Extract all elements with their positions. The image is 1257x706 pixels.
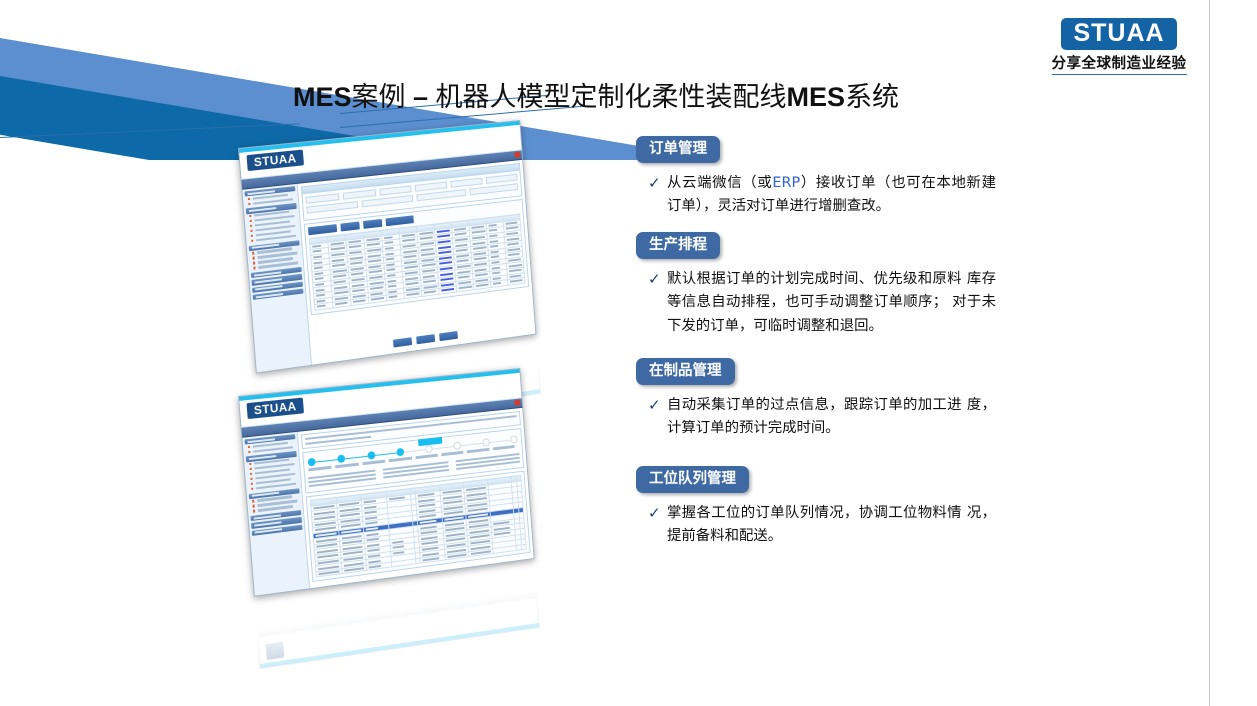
bullet-icon (249, 215, 252, 218)
feature-section-wip: 在制品管理 ✓ 自动采集订单的过点信息，跟踪订单的加工进 度，计算订单的预计完成… (636, 358, 996, 441)
step-connector (316, 459, 338, 463)
step-label (335, 463, 358, 468)
step-connector (345, 455, 367, 459)
decorative-hairline-2 (0, 123, 300, 138)
step-label (441, 451, 463, 456)
feature-section-order: 订单管理 ✓ 从云端微信（或ERP）接收订单（也可在本地新建订单），灵活对订单进… (636, 136, 996, 219)
main-content (298, 408, 534, 589)
mes-window-wip[interactable]: STUAA (238, 368, 535, 597)
app-logo: STUAA (246, 150, 303, 172)
filter-input[interactable] (416, 189, 466, 201)
toolbar-button[interactable] (363, 219, 382, 229)
filter-input[interactable] (486, 174, 518, 184)
wip-table[interactable] (310, 475, 527, 578)
filter-input[interactable] (469, 183, 518, 195)
nav-group[interactable] (246, 203, 299, 244)
footer-button[interactable] (439, 331, 458, 341)
step-connector (489, 439, 510, 443)
step-label (415, 454, 438, 459)
filter-input[interactable] (362, 195, 413, 207)
step-label (467, 448, 489, 453)
feature-section-station-queue: 工位队列管理 ✓ 掌握各工位的订单队列情况，协调工位物料情 况，提前备料和配送。 (636, 466, 996, 549)
bullet-icon (253, 267, 256, 270)
bullet-icon (248, 203, 251, 206)
step-node-pending[interactable] (510, 436, 518, 444)
bullet-icon (248, 198, 251, 201)
check-icon: ✓ (648, 172, 667, 219)
page-title-case: 案例 (352, 82, 406, 113)
bullet-icon (252, 500, 255, 503)
page-title-dash: – (406, 82, 436, 112)
logo-tagline: 分享全球制造业经验 (1052, 52, 1187, 75)
bullet-icon (248, 451, 251, 454)
bullet-station-queue: ✓ 掌握各工位的订单队列情况，协调工位物料情 况，提前备料和配送。 (636, 502, 996, 549)
bullet-order: ✓ 从云端微信（或ERP）接收订单（也可在本地新建订单），灵活对订单进行增删查改… (636, 172, 996, 219)
bullet-scheduling: ✓ 默认根据订单的计划完成时间、优先级和原料 库存等信息自动排程，也可手动调整订… (636, 268, 996, 338)
section-badge-station-queue: 工位队列管理 (636, 466, 749, 493)
footer-button[interactable] (393, 337, 412, 347)
bullet-text-station-queue: 掌握各工位的订单队列情况，协调工位物料情 况，提前备料和配送。 (667, 502, 996, 549)
step-connector (404, 449, 426, 453)
right-frame-rule (1209, 0, 1210, 706)
section-badge-wip: 在制品管理 (636, 358, 735, 385)
bullet-icon (250, 220, 253, 223)
bullet-text-order-pre: 从云端微信（或 (667, 175, 772, 191)
bullet-icon (250, 225, 253, 228)
page-title: MES案例 – 机器人模型定制化柔性装配线MES系统 (293, 75, 993, 114)
toolbar-button[interactable] (308, 224, 337, 235)
step-label (493, 445, 515, 450)
feature-list: 订单管理 ✓ 从云端微信（或ERP）接收订单（也可在本地新建订单），灵活对订单进… (636, 136, 996, 554)
bullet-icon (250, 468, 253, 471)
step-label (308, 466, 331, 471)
toolbar-button[interactable] (340, 222, 360, 232)
bullet-icon (253, 257, 256, 260)
bullet-text-scheduling: 默认根据订单的计划完成时间、优先级和原料 库存等信息自动排程，也可手动调整订单顺… (667, 268, 996, 338)
filter-input[interactable] (451, 178, 483, 188)
close-icon[interactable] (515, 400, 521, 406)
bullet-icon (251, 483, 254, 486)
section-badge-scheduling: 生产排程 (636, 232, 720, 259)
brand-logo: STUAA 分享全球制造业经验 (1039, 18, 1199, 75)
step-label (389, 457, 412, 462)
step-label (362, 460, 385, 465)
step-connector (375, 452, 397, 456)
bullet-icon (250, 478, 253, 481)
bullet-icon (252, 252, 255, 255)
toolbar-button[interactable] (385, 215, 413, 226)
filter-input[interactable] (306, 193, 340, 204)
page-title-mes-1: MES (293, 82, 352, 112)
step-connector (461, 442, 482, 446)
logo-text: STUAA (1061, 18, 1176, 50)
screenshot-wip-progress[interactable]: STUAA (238, 368, 540, 670)
slide-canvas: STUAA 分享全球制造业经验 MES案例 – 机器人模型定制化柔性装配线MES… (0, 0, 1257, 706)
bullet-text-order: 从云端微信（或ERP）接收订单（也可在本地新建订单），灵活对订单进行增删查改。 (667, 172, 996, 219)
section-badge-order: 订单管理 (636, 136, 720, 163)
bullet-icon (253, 510, 256, 513)
bullet-icon (251, 240, 254, 243)
page-title-subject: 机器人模型定制化柔性装配线 (436, 82, 787, 113)
bullet-icon (249, 463, 252, 466)
filter-input[interactable] (306, 201, 358, 214)
nav-group[interactable] (246, 451, 299, 492)
check-icon: ✓ (648, 502, 667, 549)
bullet-icon (251, 488, 254, 491)
bullet-text-wip: 自动采集订单的过点信息，跟踪订单的加工进 度，计算订单的预计完成时间。 (667, 394, 996, 441)
decorative-band-bottom-right (897, 556, 1257, 706)
band-stripe-light (897, 633, 1257, 706)
bullet-icon (250, 230, 253, 233)
page-title-system: 系统 (845, 82, 899, 113)
step-connector (433, 446, 454, 450)
mes-window-order-list[interactable]: STUAA (238, 120, 536, 373)
close-icon[interactable] (515, 152, 521, 158)
bullet-icon (253, 505, 256, 508)
app-body (242, 160, 535, 372)
check-icon: ✓ (648, 394, 667, 441)
check-icon: ✓ (648, 268, 667, 338)
bullet-icon (250, 473, 253, 476)
bullet-icon (253, 262, 256, 265)
bullet-icon (248, 446, 251, 449)
bullet-icon (251, 235, 254, 238)
filter-input[interactable] (415, 181, 447, 191)
filter-input[interactable] (379, 185, 412, 195)
page-title-mes-2: MES (787, 82, 846, 112)
feature-section-scheduling: 生产排程 ✓ 默认根据订单的计划完成时间、优先级和原料 库存等信息自动排程，也可… (636, 232, 996, 338)
app-logo: STUAA (246, 398, 303, 420)
main-content (298, 160, 536, 365)
bullet-wip: ✓ 自动采集订单的过点信息，跟踪订单的加工进 度，计算订单的预计完成时间。 (636, 394, 996, 441)
filter-input[interactable] (343, 189, 376, 199)
bullet-text-order-highlight: ERP (772, 175, 800, 191)
band-stripe-dark (897, 687, 1257, 706)
footer-button[interactable] (416, 334, 435, 344)
nav-group[interactable] (249, 240, 301, 271)
